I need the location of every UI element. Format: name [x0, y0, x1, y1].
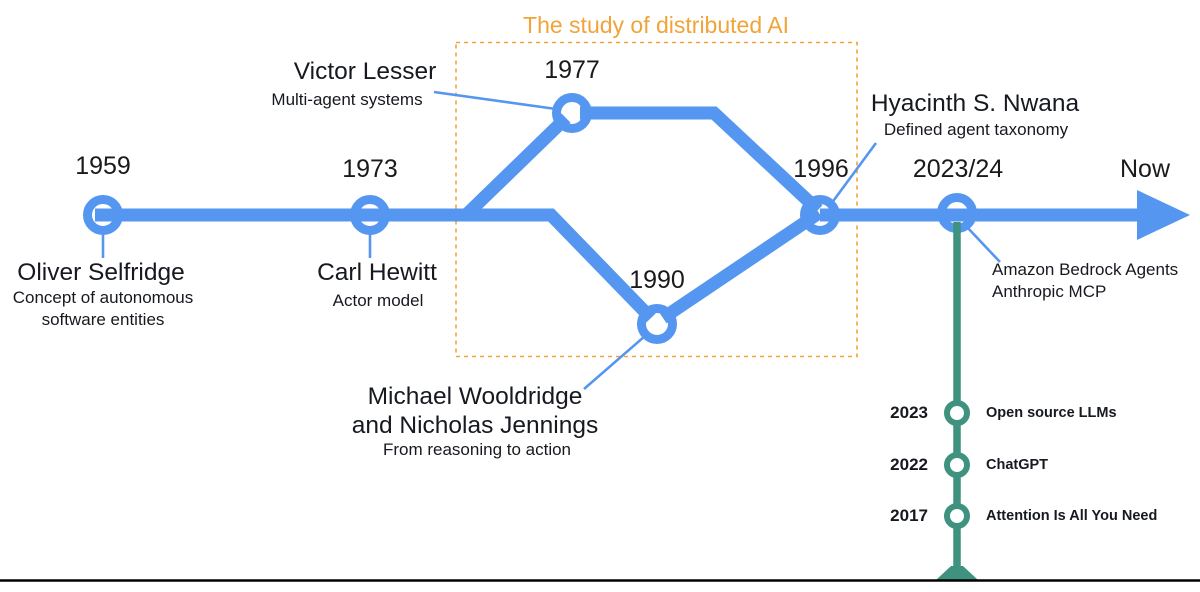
- llm-sub-timeline-track: [936, 222, 978, 580]
- leader-1977: [434, 92, 556, 109]
- desc-line2-oliver-selfridge: software entities: [42, 310, 165, 330]
- desc-line1-carl-hewitt: Actor model: [333, 291, 424, 311]
- leader-1990: [584, 336, 645, 389]
- desc-line1-bedrock-agents: Amazon Bedrock Agents: [992, 260, 1178, 280]
- sub-year-2017: 2017: [890, 506, 928, 526]
- now-label: Now: [1120, 155, 1170, 184]
- sub-label-attention-paper: Attention Is All You Need: [986, 508, 1157, 525]
- leader-2023-24: [966, 226, 1000, 262]
- sub-label-open-source-llms: Open source LLMs: [986, 405, 1117, 422]
- node-sub-2017[interactable]: [947, 506, 967, 526]
- desc-line1-hyacinth-nwana: Defined agent taxonomy: [884, 120, 1068, 140]
- person-label-wooldridge-line1: Michael Wooldridge: [368, 383, 583, 411]
- node-1990[interactable]: [642, 309, 673, 340]
- year-label-2023-24: 2023/24: [913, 155, 1003, 184]
- person-label-wooldridge-line2: and Nicholas Jennings: [352, 412, 599, 440]
- sub-label-chatgpt: ChatGPT: [986, 457, 1048, 474]
- timeline-diagram: The study of distributed AI Now 1959 Oli…: [0, 0, 1200, 592]
- year-label-1977: 1977: [544, 56, 600, 85]
- node-sub-2023[interactable]: [947, 403, 967, 423]
- person-label-oliver-selfridge: Oliver Selfridge: [17, 259, 184, 287]
- desc-line1-wooldridge: From reasoning to action: [383, 440, 571, 460]
- sub-year-2022: 2022: [890, 455, 928, 475]
- person-label-carl-hewitt: Carl Hewitt: [317, 259, 437, 287]
- person-label-victor-lesser: Victor Lesser: [294, 58, 437, 86]
- person-label-hyacinth-nwana: Hyacinth S. Nwana: [871, 90, 1079, 118]
- desc-line2-anthropic-mcp: Anthropic MCP: [992, 282, 1106, 302]
- year-label-1973: 1973: [342, 155, 398, 184]
- distributed-ai-box-title: The study of distributed AI: [523, 12, 789, 39]
- desc-line1-oliver-selfridge: Concept of autonomous: [13, 288, 194, 308]
- desc-line1-victor-lesser: Multi-agent systems: [271, 90, 422, 110]
- year-label-1959: 1959: [75, 152, 131, 181]
- node-sub-2022[interactable]: [947, 455, 967, 475]
- year-label-1990: 1990: [629, 266, 685, 295]
- year-label-1996: 1996: [793, 155, 849, 184]
- sub-year-2023: 2023: [890, 403, 928, 423]
